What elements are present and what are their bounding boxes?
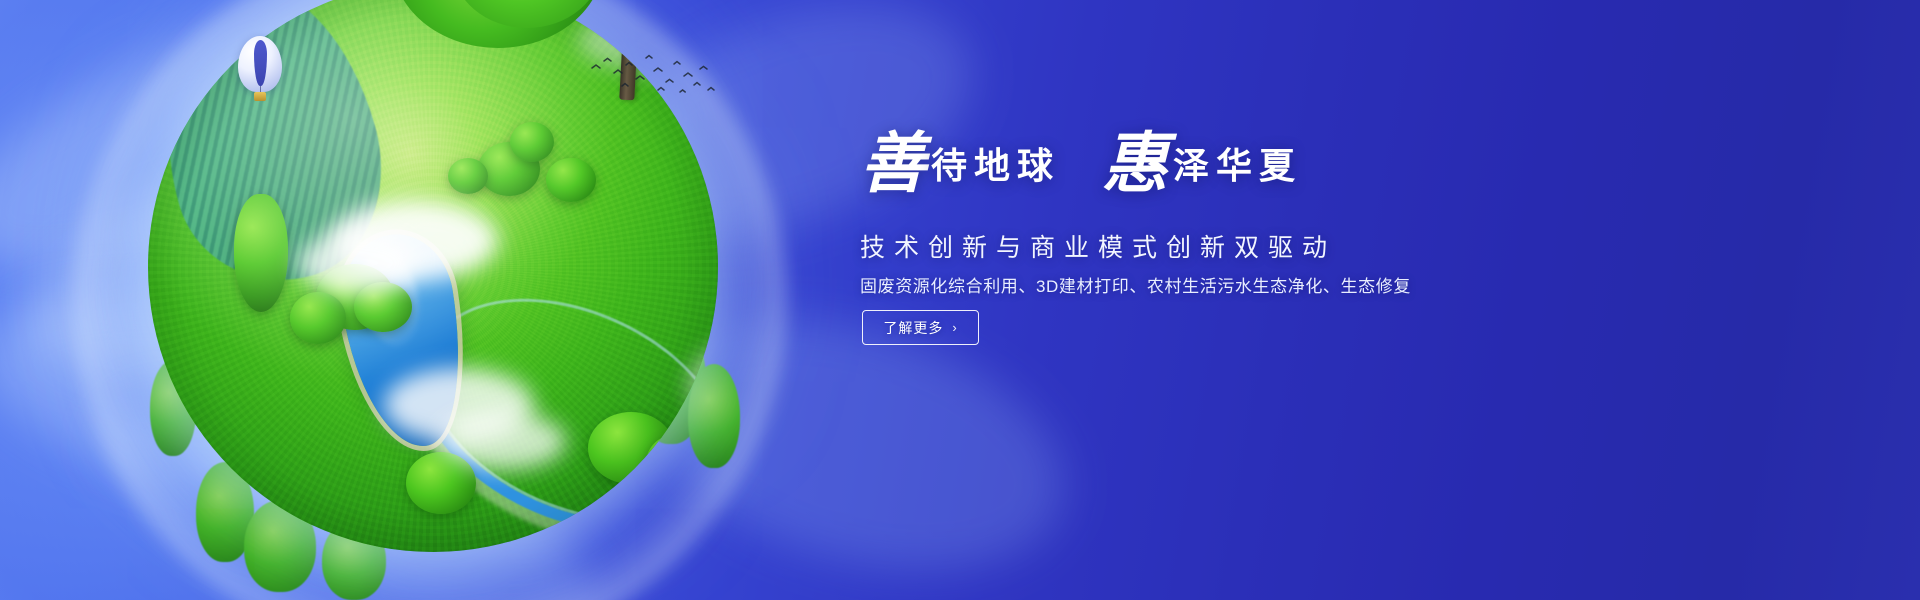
headline-rest-1: 待地球 bbox=[931, 146, 1060, 186]
headline-rest-2: 泽华夏 bbox=[1173, 146, 1302, 186]
balloon-basket bbox=[254, 92, 266, 101]
headline-char-1: 善 bbox=[860, 128, 931, 201]
headline-char-2: 惠 bbox=[1102, 128, 1173, 201]
hero-banner: 善待地球惠泽华夏 技术创新与商业模式创新双驱动 固废资源化综合利用、3D建材打印… bbox=[0, 0, 1920, 600]
learn-more-label: 了解更多 bbox=[883, 318, 943, 338]
learn-more-button[interactable]: 了解更多 › bbox=[862, 310, 979, 345]
chevron-right-icon: › bbox=[952, 321, 957, 334]
page-title: 善待地球惠泽华夏 bbox=[860, 132, 1560, 216]
page-subtitle: 技术创新与商业模式创新双驱动 bbox=[860, 228, 1560, 264]
hero-content: 善待地球惠泽华夏 技术创新与商业模式创新双驱动 固废资源化综合利用、3D建材打印… bbox=[860, 0, 1560, 600]
hot-air-balloon-icon bbox=[238, 36, 282, 92]
page-tagline: 固废资源化综合利用、3D建材打印、农村生活污水生态净化、生态修复 bbox=[860, 272, 1560, 297]
bird-flock-icon bbox=[588, 52, 718, 98]
